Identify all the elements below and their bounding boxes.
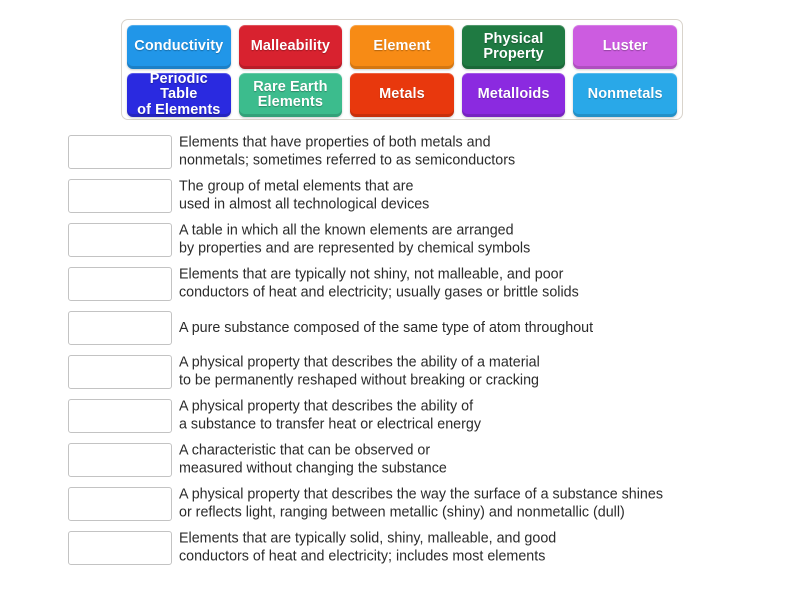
definition-text: A characteristic that can be observed or… xyxy=(179,442,447,479)
answer-drop-zone[interactable] xyxy=(68,135,172,169)
word-tile-label: Malleability xyxy=(251,39,330,54)
answer-drop-zone[interactable] xyxy=(68,223,172,257)
word-tile[interactable]: Periodic Table of Elements xyxy=(127,73,231,117)
word-tile-label: Metalloids xyxy=(478,87,550,102)
question-row: A physical property that describes the a… xyxy=(0,350,800,394)
answer-drop-zone[interactable] xyxy=(68,399,172,433)
word-tile[interactable]: Element xyxy=(350,25,454,69)
question-row: Elements that are typically solid, shiny… xyxy=(0,526,800,570)
question-list: Elements that have properties of both me… xyxy=(0,130,800,570)
word-tile-label: Rare Earth Elements xyxy=(253,80,327,111)
definition-text: Elements that are typically solid, shiny… xyxy=(179,530,556,567)
question-row: A physical property that describes the w… xyxy=(0,482,800,526)
word-tile[interactable]: Nonmetals xyxy=(573,73,677,117)
question-row: The group of metal elements that are use… xyxy=(0,174,800,218)
word-tile[interactable]: Metals xyxy=(350,73,454,117)
word-bank-panel: ConductivityMalleabilityElementPhysical … xyxy=(121,19,683,120)
question-row: A characteristic that can be observed or… xyxy=(0,438,800,482)
word-bank-row: ConductivityMalleabilityElementPhysical … xyxy=(127,25,677,69)
question-row: Elements that are typically not shiny, n… xyxy=(0,262,800,306)
word-tile[interactable]: Metalloids xyxy=(462,73,566,117)
answer-drop-zone[interactable] xyxy=(68,355,172,389)
word-tile-label: Periodic Table of Elements xyxy=(130,72,228,118)
definition-text: A physical property that describes the w… xyxy=(179,486,663,523)
definition-text: Elements that are typically not shiny, n… xyxy=(179,266,579,303)
word-bank-row: Periodic Table of ElementsRare Earth Ele… xyxy=(127,73,677,117)
word-tile[interactable]: Conductivity xyxy=(127,25,231,69)
answer-drop-zone[interactable] xyxy=(68,179,172,213)
question-row: Elements that have properties of both me… xyxy=(0,130,800,174)
word-tile-label: Metals xyxy=(379,87,425,102)
answer-drop-zone[interactable] xyxy=(68,531,172,565)
definition-text: A physical property that describes the a… xyxy=(179,354,540,391)
answer-drop-zone[interactable] xyxy=(68,311,172,345)
word-tile[interactable]: Rare Earth Elements xyxy=(239,73,343,117)
definition-text: The group of metal elements that are use… xyxy=(179,178,429,215)
word-tile[interactable]: Physical Property xyxy=(462,25,566,69)
answer-drop-zone[interactable] xyxy=(68,267,172,301)
definition-text: A table in which all the known elements … xyxy=(179,222,530,259)
definition-text: A physical property that describes the a… xyxy=(179,398,481,435)
question-row: A pure substance composed of the same ty… xyxy=(0,306,800,350)
word-tile[interactable]: Luster xyxy=(573,25,677,69)
answer-drop-zone[interactable] xyxy=(68,443,172,477)
question-row: A physical property that describes the a… xyxy=(0,394,800,438)
word-tile-label: Physical Property xyxy=(483,32,543,63)
word-tile-label: Element xyxy=(373,39,430,54)
word-tile[interactable]: Malleability xyxy=(239,25,343,69)
word-tile-label: Nonmetals xyxy=(588,87,663,102)
definition-text: A pure substance composed of the same ty… xyxy=(179,319,593,337)
word-tile-label: Conductivity xyxy=(134,39,223,54)
question-row: A table in which all the known elements … xyxy=(0,218,800,262)
answer-drop-zone[interactable] xyxy=(68,487,172,521)
word-tile-label: Luster xyxy=(603,39,648,54)
definition-text: Elements that have properties of both me… xyxy=(179,134,515,171)
